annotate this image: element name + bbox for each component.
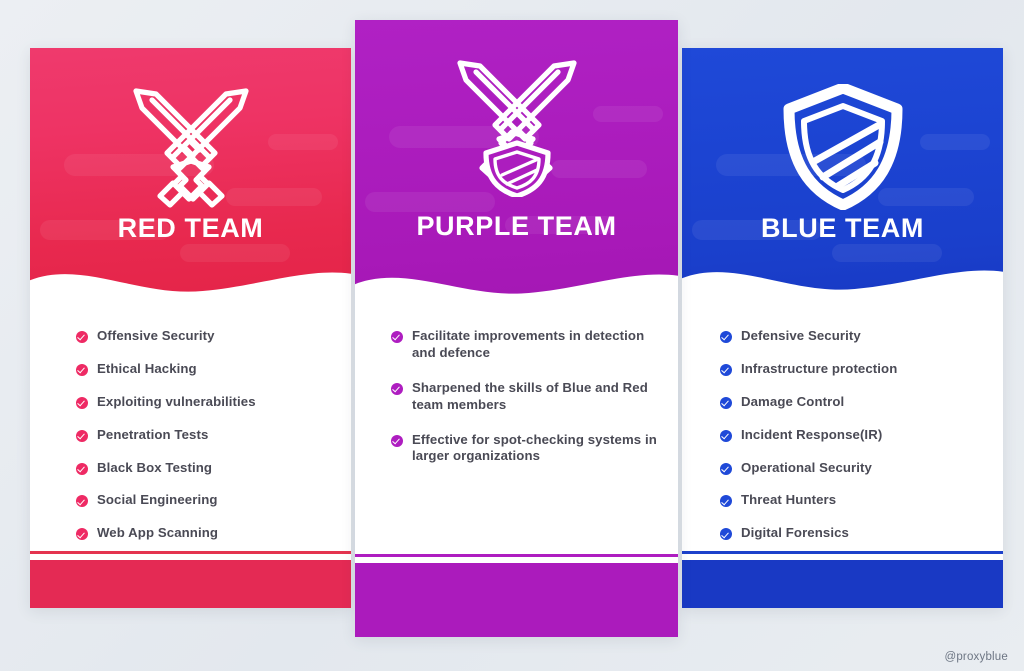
card-title-red-team: RED TEAM [30,213,351,244]
check-circle-icon [720,463,732,475]
list-item-label: Web App Scanning [97,525,218,542]
feature-list-blue-team: Defensive Security Infrastructure protec… [720,328,981,542]
list-item: Offensive Security [76,328,329,345]
check-circle-icon [76,463,88,475]
card-title-purple-team: PURPLE TEAM [355,211,678,242]
footer-bar-purple-team [355,563,678,637]
list-item-label: Effective for spot-checking systems in l… [412,432,660,466]
check-circle-icon [720,528,732,540]
wave-divider [30,251,351,296]
check-circle-icon [720,397,732,409]
list-item-label: Incident Response(IR) [741,427,882,444]
card-body-purple-team: Facilitate improvements in detection and… [355,296,678,557]
list-item: Web App Scanning [76,525,329,542]
check-circle-icon [76,495,88,507]
check-circle-icon [76,430,88,442]
list-item-label: Threat Hunters [741,492,836,509]
list-item-label: Damage Control [741,394,844,411]
card-header-red-team: RED TEAM [30,48,351,296]
striped-shield-icon [682,82,1003,212]
check-circle-icon [720,495,732,507]
card-red-team: RED TEAM Offensive Security Ethical Hack… [30,48,351,608]
list-item: Defensive Security [720,328,981,345]
list-item-label: Exploiting vulnerabilities [97,394,256,411]
check-circle-icon [391,383,403,395]
list-item: Effective for spot-checking systems in l… [391,432,660,466]
card-body-blue-team: Defensive Security Infrastructure protec… [682,296,1003,554]
card-body-red-team: Offensive Security Ethical Hacking Explo… [30,296,351,554]
list-item: Incident Response(IR) [720,427,981,444]
footer-rule [355,554,678,557]
list-item-label: Digital Forensics [741,525,849,542]
list-item-label: Black Box Testing [97,460,212,477]
check-circle-icon [76,364,88,376]
crossed-swords-icon [30,82,351,212]
list-item-label: Defensive Security [741,328,861,345]
feature-list-red-team: Offensive Security Ethical Hacking Explo… [76,328,329,542]
list-item-label: Social Engineering [97,492,218,509]
card-title-blue-team: BLUE TEAM [682,213,1003,244]
check-circle-icon [76,397,88,409]
list-item-label: Sharpened the skills of Blue and Red tea… [412,380,660,414]
check-circle-icon [720,364,732,376]
card-blue-team: BLUE TEAM Defensive Security Infrastruct… [682,48,1003,608]
infographic-canvas: RED TEAM Offensive Security Ethical Hack… [0,0,1024,671]
list-item-label: Penetration Tests [97,427,208,444]
list-item-label: Offensive Security [97,328,215,345]
list-item-label: Facilitate improvements in detection and… [412,328,660,362]
list-item-label: Operational Security [741,460,872,477]
list-item: Social Engineering [76,492,329,509]
crossed-swords-with-shield-icon [355,62,678,192]
card-purple-team: PURPLE TEAM Facilitate improvements in d… [355,20,678,637]
list-item: Infrastructure protection [720,361,981,378]
footer-rule [682,551,1003,554]
card-header-purple-team: PURPLE TEAM [355,20,678,296]
footer-bar-red-team [30,560,351,608]
list-item: Operational Security [720,460,981,477]
list-item: Damage Control [720,394,981,411]
watermark-credit: @proxyblue [944,651,1008,663]
list-item: Facilitate improvements in detection and… [391,328,660,362]
card-header-blue-team: BLUE TEAM [682,48,1003,296]
list-item-label: Infrastructure protection [741,361,897,378]
list-item: Penetration Tests [76,427,329,444]
feature-list-purple-team: Facilitate improvements in detection and… [391,328,660,465]
check-circle-icon [720,331,732,343]
footer-rule [30,551,351,554]
list-item: Sharpened the skills of Blue and Red tea… [391,380,660,414]
list-item: Exploiting vulnerabilities [76,394,329,411]
check-circle-icon [720,430,732,442]
list-item: Ethical Hacking [76,361,329,378]
list-item: Threat Hunters [720,492,981,509]
list-item-label: Ethical Hacking [97,361,197,378]
list-item: Digital Forensics [720,525,981,542]
check-circle-icon [76,331,88,343]
wave-divider [682,251,1003,296]
check-circle-icon [391,435,403,447]
list-item: Black Box Testing [76,460,329,477]
check-circle-icon [76,528,88,540]
wave-divider [355,251,678,296]
check-circle-icon [391,331,403,343]
footer-bar-blue-team [682,560,1003,608]
